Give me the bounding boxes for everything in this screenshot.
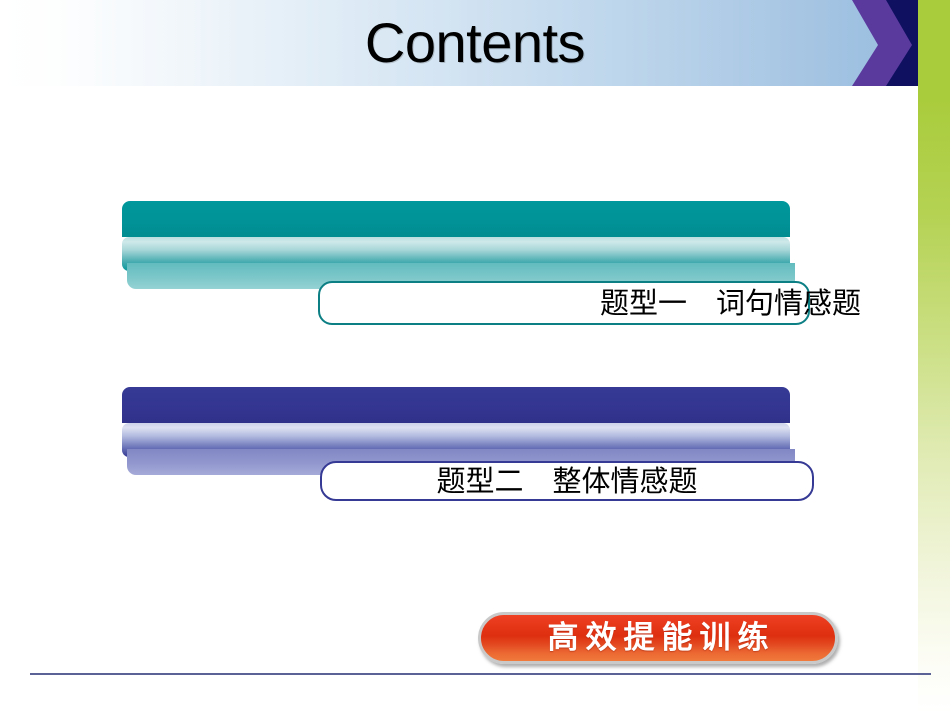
content-bar-1: [122, 201, 790, 289]
content-bar-1-top: [122, 201, 790, 237]
training-badge[interactable]: 高效提能训练: [478, 612, 838, 664]
page-title: Contents: [0, 12, 950, 74]
slide-canvas: Contents 题型一 词句情感题 题型二 整体情感题 高效提能训练: [0, 0, 950, 713]
right-green-strip: [918, 0, 950, 713]
content-item-1-label: 题型一 词句情感题: [600, 287, 867, 319]
content-bar-2-top: [122, 387, 790, 423]
content-item-2[interactable]: 题型二 整体情感题: [320, 461, 814, 501]
content-item-1[interactable]: 题型一 词句情感题: [318, 281, 810, 325]
content-item-2-label: 题型二 整体情感题: [436, 465, 697, 497]
footer-divider: [30, 673, 931, 675]
training-badge-label: 高效提能训练: [541, 621, 776, 655]
